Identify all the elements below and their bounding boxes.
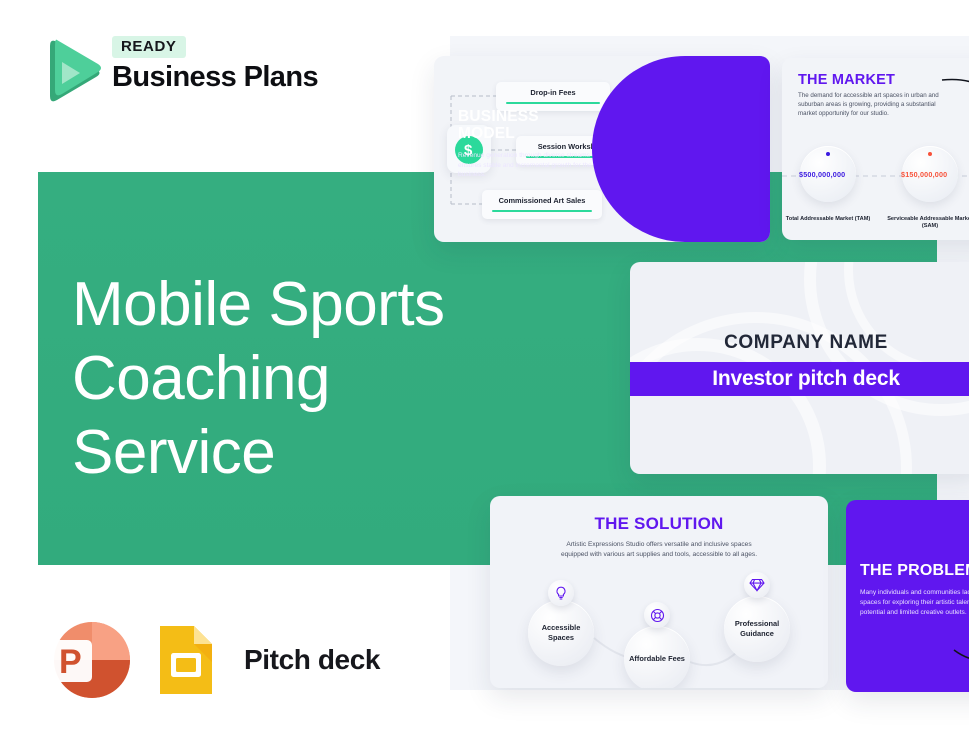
business-model-title-line1: BUSINESS: [458, 108, 539, 125]
pitch-deck-label: Pitch deck: [244, 644, 380, 676]
sam-value: $150,000,000: [901, 170, 947, 179]
solution-node-label: Accessible Spaces: [528, 623, 594, 643]
brand-wordmark: READY Business Plans: [112, 36, 342, 108]
solution-node[interactable]: Affordable Fees: [624, 626, 690, 688]
sam-dot-icon: [928, 152, 932, 156]
revenue-stream-label: Commissioned Art Sales: [492, 196, 592, 205]
slide-the-problem[interactable]: THE PROBLEM Many individuals and communi…: [846, 500, 969, 692]
investor-pitch-text: Investor pitch deck: [712, 367, 900, 391]
underline-accent: [506, 102, 600, 104]
solution-node[interactable]: Accessible Spaces: [528, 600, 594, 666]
top-white-strip: [450, 0, 969, 36]
lightbulb-icon: [548, 580, 574, 606]
problem-title: THE PROBLEM: [860, 562, 969, 580]
underline-accent: [492, 210, 592, 212]
poster-canvas: READY Business Plans Mobile Sports Coach…: [0, 0, 969, 744]
business-model-text-block: BUSINESS MODEL Revenue generation throug…: [458, 108, 598, 180]
tam-caption: Total Addressable Market (TAM): [785, 216, 871, 223]
investor-pitch-band: Investor pitch deck: [630, 362, 969, 396]
diamond-icon: [744, 572, 770, 598]
lifebuoy-icon: [644, 602, 670, 628]
solution-node[interactable]: Professional Guidance: [724, 596, 790, 662]
svg-text:P: P: [59, 643, 82, 681]
business-model-title-line2: MODEL: [458, 125, 515, 142]
solution-title: THE SOLUTION: [490, 514, 828, 534]
tam-dot-icon: [826, 152, 830, 156]
curved-arrow-icon: [952, 646, 969, 676]
revenue-stream-card[interactable]: Drop-in Fees: [496, 82, 610, 111]
bottom-white-strip: [450, 690, 969, 744]
tam-value: $500,000,000: [799, 170, 845, 179]
business-model-body: Revenue generation through diverse strea…: [458, 151, 598, 180]
play-triangle-logo-icon: [40, 36, 102, 106]
powerpoint-icon: P: [42, 618, 134, 702]
slide-the-solution[interactable]: THE SOLUTION Artistic Expressions Studio…: [490, 496, 828, 688]
company-name-text: COMPANY NAME: [630, 332, 969, 354]
slide-the-market[interactable]: THE MARKET The demand for accessible art…: [782, 58, 969, 240]
slide-company-name[interactable]: COMPANY NAME Investor pitch deck: [630, 262, 969, 474]
problem-body: Many individuals and communities lack ac…: [860, 588, 969, 619]
solution-body: Artistic Expressions Studio offers versa…: [558, 540, 760, 559]
sam-caption: Serviceable Addressable Market (SAM): [887, 216, 969, 231]
ready-badge: READY: [112, 36, 186, 58]
slide-business-model[interactable]: Drop-in Fees Session Workshops Commissio…: [434, 56, 770, 242]
solution-node-label: Professional Guidance: [724, 619, 790, 639]
google-slides-icon: [156, 622, 216, 698]
format-badges-row: P Pitch deck: [42, 618, 380, 702]
brand-name: Business Plans: [112, 61, 342, 94]
page-title: Mobile Sports Coaching Service: [72, 268, 502, 490]
revenue-stream-label: Drop-in Fees: [506, 88, 600, 97]
business-model-callout: [592, 56, 770, 242]
curved-arrow-icon: [940, 74, 969, 114]
market-title: THE MARKET: [798, 72, 895, 88]
revenue-stream-card[interactable]: Commissioned Art Sales: [482, 190, 602, 219]
brand-logo[interactable]: READY Business Plans: [40, 36, 340, 112]
solution-node-label: Affordable Fees: [629, 654, 685, 664]
market-body: The demand for accessible art spaces in …: [798, 92, 948, 118]
